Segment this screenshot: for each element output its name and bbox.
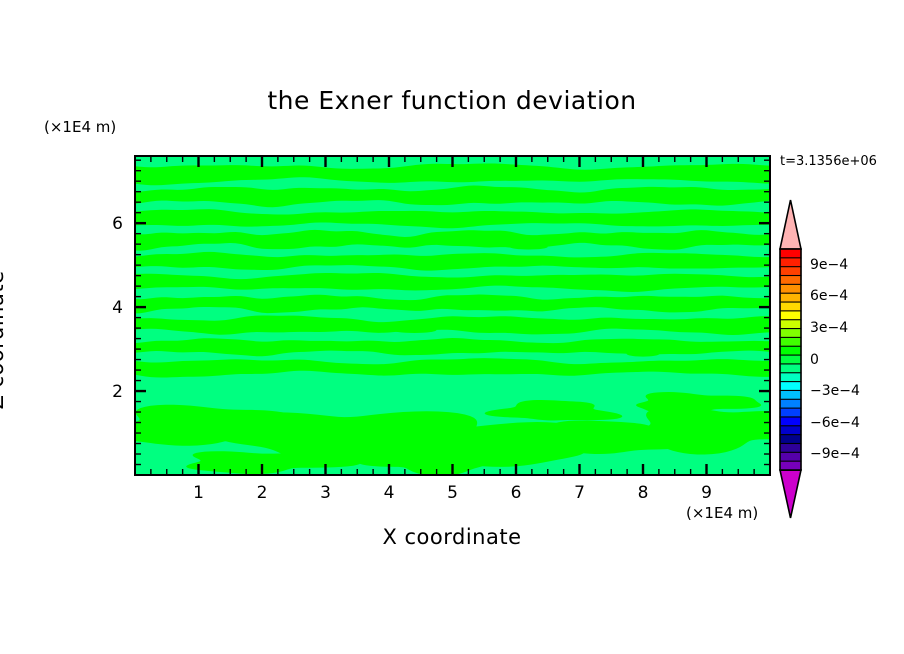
colorbar-band	[780, 276, 801, 285]
y-tick-label: 6	[83, 214, 123, 234]
colorbar-tick-label: −9e−4	[810, 446, 860, 462]
colorbar-tick-label: 6e−4	[810, 288, 848, 304]
contour-field	[100, 156, 819, 476]
colorbar-over-cap	[780, 200, 801, 249]
colorbar-band	[780, 417, 801, 426]
colorbar-band	[780, 461, 801, 470]
x-axis-title: X coordinate	[0, 527, 904, 548]
colorbar-tick-label: −3e−4	[810, 383, 860, 399]
colorbar-tick-label: 3e−4	[810, 320, 848, 336]
colorbar-band	[780, 258, 801, 267]
colorbar-band	[780, 452, 801, 461]
colorbar-band	[780, 435, 801, 444]
colorbar-band	[780, 443, 801, 452]
colorbar-tick-label: −6e−4	[810, 415, 860, 431]
colorbar-band	[780, 408, 801, 417]
x-tick-label: 3	[296, 483, 356, 503]
y-tick-label: 2	[83, 382, 123, 402]
colorbar-band	[780, 329, 801, 338]
x-axis-units-label: (×1E4 m)	[686, 506, 758, 521]
colorbar-band	[780, 382, 801, 391]
colorbar-band	[780, 390, 801, 399]
x-tick-label: 4	[359, 483, 419, 503]
x-tick-label: 5	[423, 483, 483, 503]
colorbar-band	[780, 284, 801, 293]
x-tick-label: 6	[486, 483, 546, 503]
x-tick-label: 7	[550, 483, 610, 503]
y-tick-label: 4	[83, 298, 123, 318]
colorbar-band	[780, 267, 801, 276]
colorbar-band	[780, 346, 801, 355]
colorbar-tick-label: 9e−4	[810, 257, 848, 273]
colorbar-band	[780, 337, 801, 346]
colorbar-band	[780, 311, 801, 320]
x-tick-label: 9	[677, 483, 737, 503]
colorbar-band	[780, 320, 801, 329]
colorbar-band	[780, 364, 801, 373]
contour-plot	[0, 0, 904, 654]
x-tick-label: 2	[232, 483, 292, 503]
x-tick-label: 8	[613, 483, 673, 503]
colorbar-band	[780, 293, 801, 302]
colorbar-band	[780, 399, 801, 408]
figure-canvas: the Exner function deviation (×1E4 m) t=…	[0, 0, 904, 654]
y-axis-title: Z coordinate	[0, 240, 7, 440]
colorbar-under-cap	[780, 470, 801, 518]
colorbar-band	[780, 355, 801, 364]
colorbar-band	[780, 373, 801, 382]
colorbar	[780, 200, 801, 518]
colorbar-tick-label: 0	[810, 352, 819, 368]
x-tick-label: 1	[169, 483, 229, 503]
colorbar-band	[780, 302, 801, 311]
colorbar-band	[780, 249, 801, 258]
colorbar-band	[780, 426, 801, 435]
